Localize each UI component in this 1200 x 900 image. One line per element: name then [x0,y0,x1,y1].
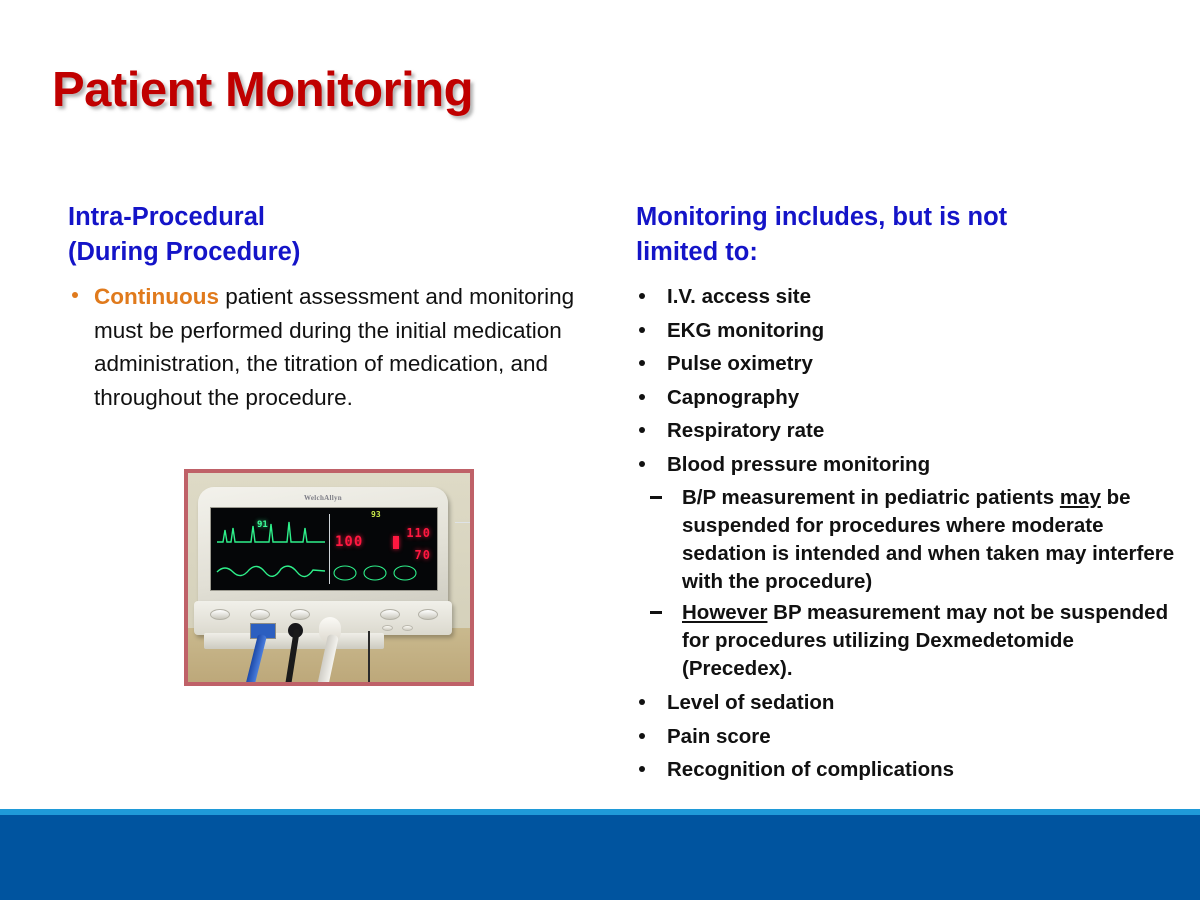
list-item: Level of sedation [636,686,1181,720]
dash-marker-icon [650,611,662,614]
sub-item-underlined-word: However [682,601,767,624]
monitor-button-5 [418,609,438,620]
list-item-label: Level of sedation [667,691,834,714]
list-item-label: Pain score [667,725,771,748]
slide-canvas: Patient Monitoring Intra-Procedural (Dur… [0,0,1200,900]
left-column-heading: Intra-Procedural (During Procedure) [68,200,598,270]
sub-item-lead: B/P measurement in pediatric patients [682,486,1060,509]
list-item-label: Respiratory rate [667,419,824,442]
monitor-photo-content: WelchAllyn 91 93 [188,473,470,682]
list-item: EKG monitoring [636,314,1181,348]
screen-divider-vertical [329,514,330,584]
systolic-readout: 110 [406,526,431,540]
dash-marker-icon [650,496,662,499]
sub-list-item: B/P measurement in pediatric patients ma… [636,484,1181,596]
right-heading-line-2: limited to: [636,235,1181,270]
list-item: Blood pressure monitoring [636,448,1181,482]
list-item: Respiratory rate [636,414,1181,448]
list-item-label: Capnography [667,386,799,409]
left-heading-line-2: (During Procedure) [68,235,598,270]
list-item: Capnography [636,381,1181,415]
list-item-label: Recognition of complications [667,758,954,781]
bullet-dot-icon [639,360,645,366]
monitor-button-1 [210,609,230,620]
screen-divider-horizontal [455,522,474,523]
list-item: Pain score [636,720,1181,754]
footer-bar: BROWARD HEALTH® [0,815,1200,900]
bullet-dot-icon [639,394,645,400]
list-item-label: I.V. access site [667,285,811,308]
bullet-dot-icon [639,461,645,467]
vitals-numeric-area: 93 100 110 70 [331,510,435,588]
list-item-label: Pulse oximetry [667,352,813,375]
list-item-label: EKG monitoring [667,319,824,342]
left-heading-line-1: Intra-Procedural [68,200,598,235]
ecg-waveform-icon [215,512,327,588]
monitor-chassis: WelchAllyn 91 93 [198,487,448,607]
bullet-dot-icon [639,699,645,705]
bullet-dot-icon [639,733,645,739]
monitoring-items-list: I.V. access siteEKG monitoringPulse oxim… [636,280,1181,787]
monitor-brand-label: WelchAllyn [198,494,448,502]
monitor-button-4 [380,609,400,620]
left-bullet-item: Continuous patient assessment and monito… [68,280,598,414]
list-item: Recognition of complications [636,753,1181,787]
monitor-button-3 [290,609,310,620]
left-bullet-emphasis: Continuous [94,284,219,309]
bullet-dot-icon [639,766,645,772]
list-item-label: Blood pressure monitoring [667,453,930,476]
patient-monitor-photo: WelchAllyn 91 93 [184,469,474,686]
right-content-column: Monitoring includes, but is not limited … [636,200,1181,787]
sub-list-item: However BP measurement may not be suspen… [636,599,1181,683]
bullet-dot-icon [639,327,645,333]
heart-rate-readout: 100 [335,534,363,550]
monitor-waveform-glyphs-icon [331,558,435,588]
page-title: Patient Monitoring [52,62,473,118]
right-column-heading: Monitoring includes, but is not limited … [636,200,1181,270]
monitor-button-2 [250,609,270,620]
ecg-waveform-area: 91 [215,512,327,588]
bullet-dot-icon [639,293,645,299]
mounting-pole [368,631,370,686]
top-numeric-readout: 93 [371,510,381,519]
left-content-column: Intra-Procedural (During Procedure) Cont… [68,200,598,414]
bullet-dot-icon [639,427,645,433]
spo2-waveform-value: 91 [257,520,268,530]
monitor-small-button-1 [382,625,393,631]
monitor-small-button-2 [402,625,413,631]
list-item: Pulse oximetry [636,347,1181,381]
right-heading-line-1: Monitoring includes, but is not [636,200,1181,235]
pulse-indicator-bar [393,536,399,549]
sub-item-underlined-word: may [1060,486,1101,509]
bullet-dot-icon [72,292,78,298]
list-item: I.V. access site [636,280,1181,314]
monitor-display-screen: 91 93 100 110 70 [210,507,438,591]
